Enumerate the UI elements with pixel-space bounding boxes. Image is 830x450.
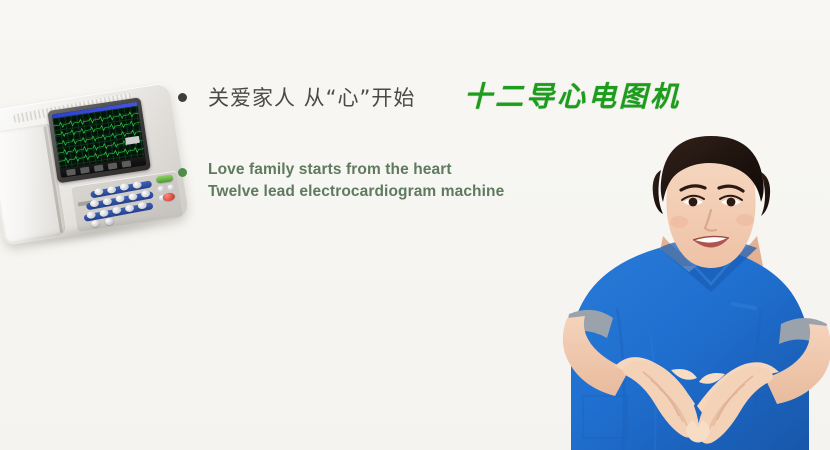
screen-softkey (108, 162, 118, 169)
bullet-icon (178, 168, 187, 177)
ecg-device-image (0, 82, 190, 249)
subtext-block: Love family starts from the heart Twelve… (208, 159, 504, 203)
stop-button-icon (162, 192, 175, 202)
subtext-line-1: Love family starts from the heart (208, 159, 504, 181)
screen-softkey (94, 164, 104, 171)
nav-right-button (167, 184, 175, 191)
product-banner: 关爱家人 从“心”开始 十二导心电图机 Love family starts f… (0, 0, 830, 450)
subtext-line-2: Twelve lead electrocardiogram machine (208, 181, 504, 203)
start-button-icon (156, 174, 174, 183)
screen-softkey (66, 168, 76, 175)
headline-chinese: 关爱家人 从“心”开始 (208, 84, 415, 112)
nurse-photo (555, 128, 830, 450)
device-screen-bezel (47, 97, 151, 183)
bullet-icon (178, 93, 187, 102)
headline-row: 关爱家人 从“心”开始 十二导心电图机 (178, 84, 698, 112)
screen-softkey (80, 166, 90, 173)
screen-softkey (121, 160, 131, 167)
device-screen (52, 102, 147, 178)
product-name-chinese: 十二导心电图机 (464, 80, 681, 114)
nav-up-button (157, 186, 165, 193)
